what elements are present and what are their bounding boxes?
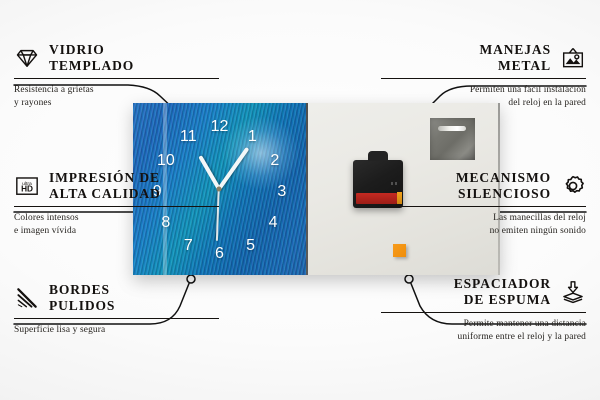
feature-header: ultra HD IMPRESIÓN DE ALTA CALIDAD — [14, 170, 219, 202]
clock-numeral-3: 3 — [277, 184, 286, 200]
minute-hand — [217, 147, 249, 190]
feature-desc-line2: e imagen vívida — [14, 225, 219, 238]
feature-header: ESPACIADOR DE ESPUMA — [381, 276, 586, 308]
panel-seam — [306, 103, 308, 275]
feature-desc-line1: Colores intensos — [14, 212, 219, 225]
feature-bordes-pulidos[interactable]: BORDES PULIDOS Superficie lisa y segura — [14, 282, 219, 337]
feature-impresion-alta-calidad[interactable]: ultra HD IMPRESIÓN DE ALTA CALIDAD Color… — [14, 170, 219, 238]
ultra-hd-icon-bottom-text: HD — [21, 185, 33, 194]
feature-title: IMPRESIÓN DE ALTA CALIDAD — [49, 170, 161, 202]
mechanism-tab — [368, 151, 388, 161]
face-highlight — [223, 117, 299, 189]
arrow-down-layers-icon — [560, 279, 586, 305]
feature-desc-line1: Superficie lisa y segura — [14, 324, 219, 337]
feature-divider — [14, 206, 219, 208]
feature-divider — [381, 78, 586, 80]
clock-numeral-11: 11 — [180, 129, 197, 145]
feature-desc-line2: y rayones — [14, 97, 219, 110]
feature-header: MECANISMO SILENCIOSO — [381, 170, 586, 202]
feature-title: MECANISMO SILENCIOSO — [456, 170, 551, 202]
ultra-hd-icon: ultra HD — [14, 173, 40, 199]
hanger-slot — [438, 126, 466, 132]
feature-divider — [381, 312, 586, 314]
feature-desc-line1: Las manecillas del reloj — [381, 212, 586, 225]
feature-desc-line2: no emiten ningún sonido — [381, 225, 586, 238]
feature-desc-line1: Permite mantener una distancia — [381, 318, 586, 331]
gear-icon — [560, 173, 586, 199]
feature-mecanismo-silencioso[interactable]: MECANISMO SILENCIOSO Las manecillas del … — [381, 170, 586, 238]
clock-numeral-7: 7 — [184, 238, 193, 254]
clock-numeral-12: 12 — [211, 119, 229, 135]
feature-title: BORDES PULIDOS — [49, 282, 115, 314]
orange-foam-spacer — [393, 244, 406, 257]
feature-desc-line2: del reloj en la pared — [381, 97, 586, 110]
infographic-canvas: 12 1 2 3 4 5 6 7 8 9 10 11 — [0, 0, 600, 400]
clock-numeral-4: 4 — [269, 215, 278, 231]
feature-espaciador-espuma[interactable]: ESPACIADOR DE ESPUMA Permite mantener un… — [381, 276, 586, 344]
clock-numeral-5: 5 — [246, 238, 255, 254]
metal-hanger-plate — [430, 118, 475, 160]
feature-divider — [381, 206, 586, 208]
feature-divider — [14, 318, 219, 320]
feature-header: VIDRIO TEMPLADO — [14, 42, 219, 74]
feature-manejas-metal[interactable]: MANEJAS METAL Permiten una fácil instala… — [381, 42, 586, 110]
feature-desc-line1: Resistencia a grietas — [14, 84, 219, 97]
diagonal-lines-icon — [14, 285, 40, 311]
feature-divider — [14, 78, 219, 80]
clock-numeral-10: 10 — [157, 153, 175, 169]
feature-header: BORDES PULIDOS — [14, 282, 219, 314]
clock-numeral-6: 6 — [215, 246, 224, 262]
feature-title: MANEJAS METAL — [479, 42, 551, 74]
clock-numeral-2: 2 — [270, 153, 279, 169]
picture-frame-hanging-icon — [560, 45, 586, 71]
feature-vidrio-templado[interactable]: VIDRIO TEMPLADO Resistencia a grietas y … — [14, 42, 219, 110]
feature-title: ESPACIADOR DE ESPUMA — [454, 276, 551, 308]
diamond-icon — [14, 45, 40, 71]
feature-title: VIDRIO TEMPLADO — [49, 42, 134, 74]
feature-desc-line1: Permiten una fácil instalación — [381, 84, 586, 97]
feature-desc-line2: uniforme entre el reloj y la pared — [381, 331, 586, 344]
feature-header: MANEJAS METAL — [381, 42, 586, 74]
clock-numeral-1: 1 — [248, 129, 257, 145]
